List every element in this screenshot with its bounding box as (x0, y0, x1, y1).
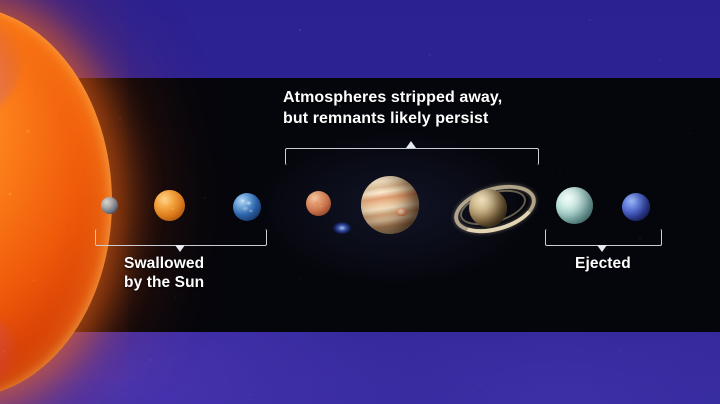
bracket-swallowed-arrow-icon (175, 245, 185, 252)
jupiter-shading (361, 176, 419, 234)
earth-cloud-land (233, 193, 261, 221)
planet-jupiter (361, 176, 419, 234)
label-swallowed-line2: by the Sun (124, 274, 204, 293)
label-swallowed-line1: Swallowed (124, 255, 204, 274)
planet-neptune (622, 193, 650, 221)
label-stripped-line2: but remnants likely persist (283, 109, 502, 130)
label-ejected: Ejected (575, 255, 631, 274)
sun-core (0, 6, 112, 398)
mars-surface-mottling (306, 191, 331, 216)
neptune-shading (622, 193, 650, 221)
label-ejected-line1: Ejected (575, 255, 631, 274)
sun-limb-glow (0, 6, 112, 398)
bracket-stripped (285, 148, 539, 165)
planet-mercury (101, 197, 118, 214)
planet-uranus (556, 187, 593, 224)
bracket-ejected (545, 229, 662, 246)
solar-system-diagram: Swallowed by the Sun Atmospheres strippe… (0, 0, 720, 404)
label-swallowed: Swallowed by the Sun (124, 255, 204, 293)
label-stripped-line1: Atmospheres stripped away, (283, 88, 502, 109)
uranus-shading (556, 187, 593, 224)
planet-venus (154, 190, 185, 221)
planet-mars (306, 191, 331, 216)
label-stripped: Atmospheres stripped away, but remnants … (283, 88, 502, 130)
blue-star-icon (333, 222, 351, 234)
bracket-ejected-arrow-icon (597, 245, 607, 252)
planet-earth (233, 193, 261, 221)
venus-surface-mottling (154, 190, 185, 221)
planet-saturn (455, 176, 527, 238)
bracket-swallowed (95, 229, 267, 246)
sun (0, 6, 112, 398)
bracket-stripped-arrow-icon (406, 141, 416, 148)
